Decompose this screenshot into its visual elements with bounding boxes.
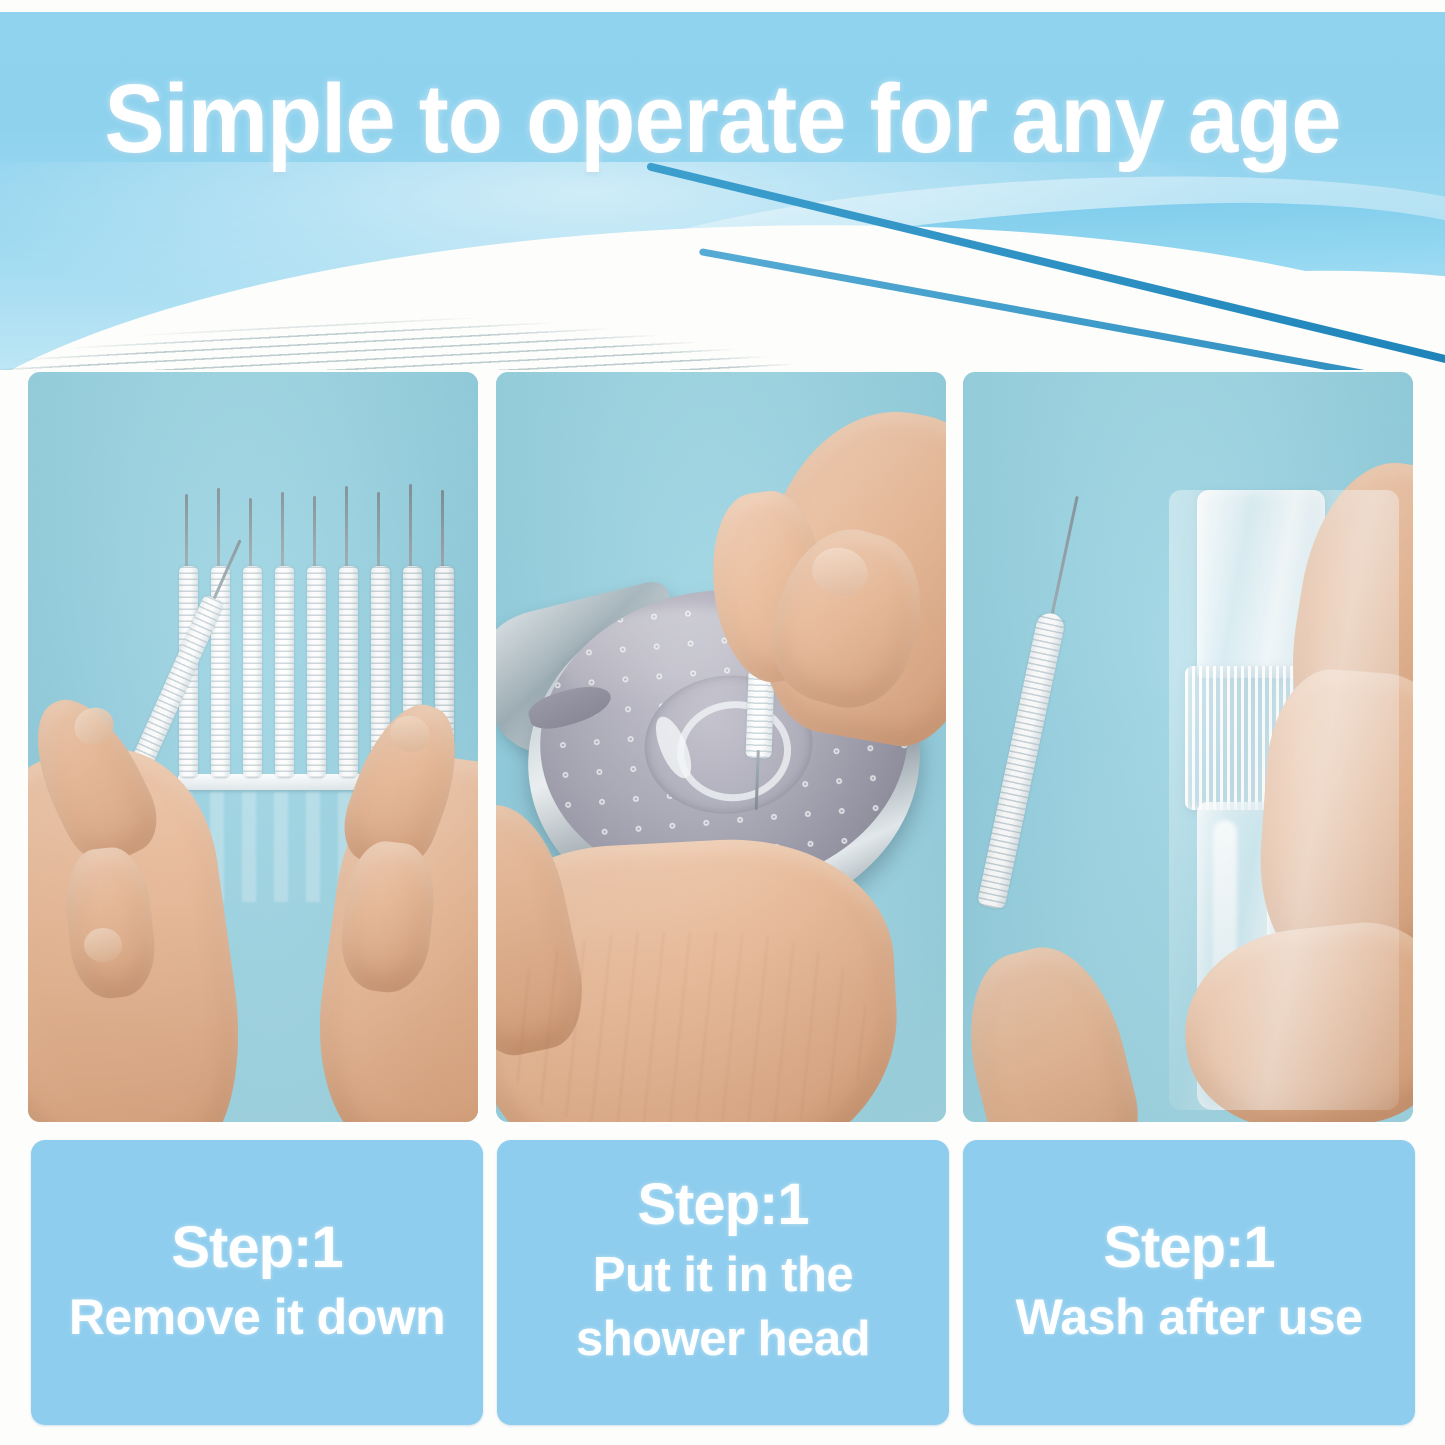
caption-row: Step:1 Remove it down Step:1 Put it in t… [0, 1140, 1445, 1427]
page-title: Simple to operate for any age [51, 70, 1395, 167]
caption-card-step2: Step:1 Put it in the shower head [497, 1140, 949, 1425]
photo-wash-brush [963, 372, 1413, 1122]
photo-panel-wash [963, 372, 1413, 1122]
caption-card-step1: Step:1 Remove it down [31, 1140, 483, 1425]
caption-description: Put it in the shower head [576, 1244, 870, 1371]
photo-panel-remove [28, 372, 478, 1122]
photo-insert-brush [496, 372, 946, 1122]
photo-vignette [963, 372, 1413, 1122]
caption-card-step3: Step:1 Wash after use [963, 1140, 1415, 1425]
infographic-page: Simple to operate for any age [0, 0, 1445, 1445]
caption-description-line-1: Put it in the [576, 1244, 870, 1308]
photo-vignette [496, 372, 946, 1122]
caption-description: Wash after use [1016, 1288, 1363, 1347]
caption-step-label: Step:1 [1103, 1218, 1274, 1277]
caption-step-label: Step:1 [171, 1218, 342, 1277]
photo-panel-row [0, 372, 1445, 1124]
photo-remove-brush [28, 372, 478, 1122]
photo-panel-insert [496, 372, 946, 1122]
caption-description: Remove it down [69, 1288, 445, 1347]
caption-description-line-2: shower head [576, 1308, 870, 1372]
header-banner: Simple to operate for any age [0, 12, 1445, 370]
caption-step-label: Step:1 [637, 1175, 808, 1234]
photo-vignette [28, 372, 478, 1122]
header-striped-wave [0, 162, 820, 370]
